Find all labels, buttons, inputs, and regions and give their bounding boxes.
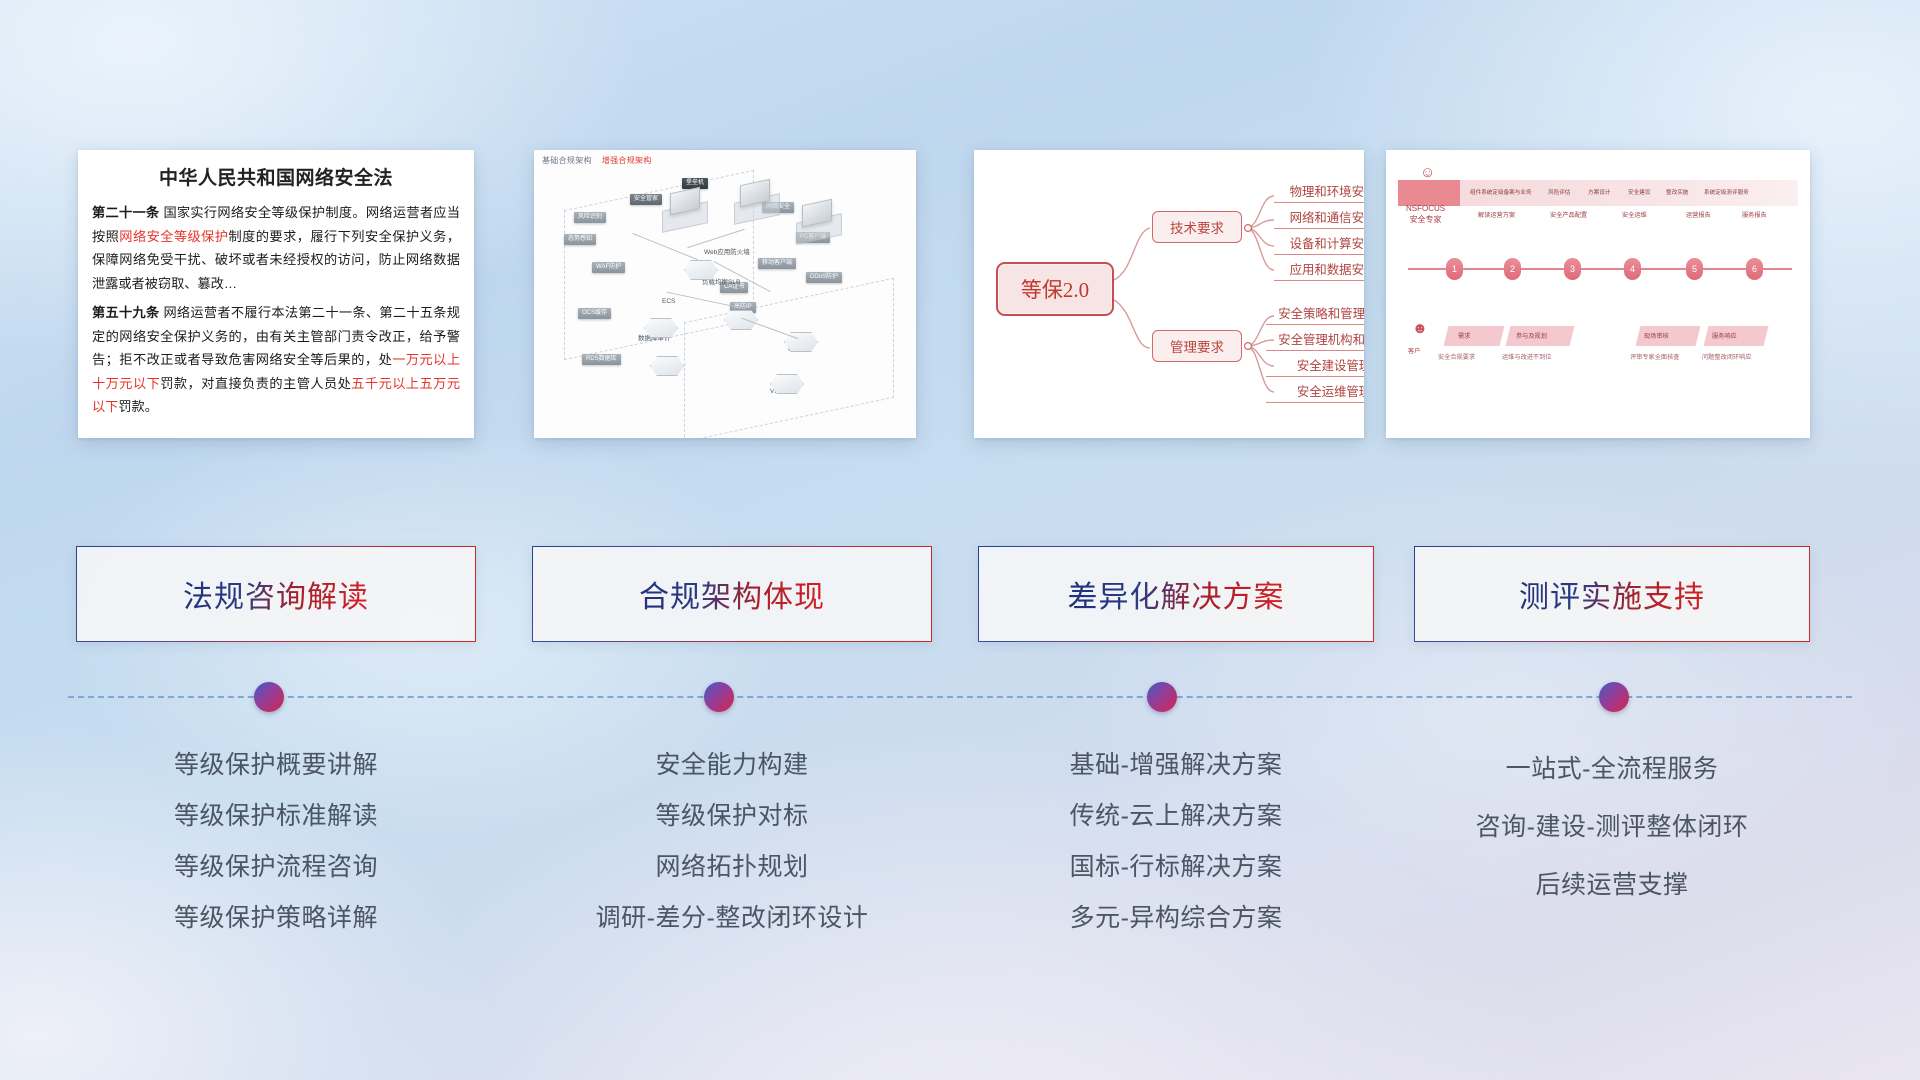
roadmap-callout	[1444, 326, 1505, 346]
list-item: 安全能力构建	[532, 740, 932, 791]
roadmap-step: 5	[1686, 258, 1703, 280]
roadmap-bottom-sub: 问题整改闭环响应	[1702, 352, 1752, 361]
law-article-21: 第二十一条 国家实行网络安全等级保护制度。网络运营者应当按照网络安全等级保护制度…	[92, 201, 460, 295]
roadmap-step: 4	[1624, 258, 1641, 280]
list-item: 后续运营支撑	[1414, 856, 1810, 914]
service-hex	[724, 310, 758, 330]
roadmap-ribbon-brand-block	[1398, 180, 1460, 206]
plate-legal-consulting[interactable]: 法规咨询解读	[76, 546, 476, 642]
roadmap-bottom-title: 服务响应	[1712, 331, 1737, 340]
roadmap-step: 6	[1746, 258, 1763, 280]
list-item: 国标-行标解决方案	[978, 842, 1374, 893]
roadmap-top-tag: 风险评估	[1548, 188, 1570, 196]
roadmap-top-tag: 组件系统定级备案与业务	[1470, 188, 1532, 196]
card-service-roadmap: ☺ NSFOCUS 安全专家 组件系统定级备案与业务 风险评估 方案设计 安全建…	[1386, 150, 1810, 438]
card-law-text: 中华人民共和国网络安全法 第二十一条 国家实行网络安全等级保护制度。网络运营者应…	[78, 150, 474, 438]
list-item: 等级保护对标	[532, 791, 932, 842]
roadmap-stage-label: 解读运营方案	[1478, 210, 1515, 219]
architecture-header-right: 增强合规架构	[602, 156, 652, 165]
list-item: 调研-差分-整改闭环设计	[532, 893, 932, 944]
article-highlight: 网络安全等级保护	[119, 229, 228, 244]
mindmap-leaf: 安全管理机构和人员	[1266, 330, 1364, 351]
mindmap-leaf: 物理和环境安全	[1274, 182, 1364, 203]
slide-stage: 中华人民共和国网络安全法 第二十一条 国家实行网络安全等级保护制度。网络运营者应…	[0, 0, 1920, 1080]
node-chip: 移动客户端	[758, 258, 796, 269]
node-chip: 安全管家	[630, 194, 662, 205]
node-chip: OCS缓存	[578, 308, 611, 319]
roadmap-stage-label: 安全运维	[1622, 210, 1647, 219]
article-number: 第五十九条	[92, 305, 159, 320]
mindmap-leaf: 应用和数据安全	[1274, 260, 1364, 281]
list-item: 等级保护概要讲解	[76, 740, 476, 791]
roadmap-bottom-title: 需求	[1458, 331, 1470, 340]
timeline-dashed-line	[68, 696, 1852, 698]
node-chip: WAF防护	[592, 262, 625, 273]
timeline-dot-2[interactable]	[704, 682, 734, 712]
list-item: 等级保护策略详解	[76, 893, 476, 944]
node-label: ECS	[662, 298, 675, 305]
service-hex	[770, 374, 804, 394]
plate-differentiated-solution[interactable]: 差异化解决方案	[978, 546, 1374, 642]
roadmap-timeline	[1408, 268, 1792, 270]
list-item: 网络拓扑规划	[532, 842, 932, 893]
plate-title: 测评实施支持	[1519, 572, 1705, 616]
node-label: Web应用防火墙	[704, 246, 750, 256]
list-item: 传统-云上解决方案	[978, 791, 1374, 842]
list-item: 等级保护流程咨询	[76, 842, 476, 893]
service-hex	[644, 318, 678, 338]
roadmap-customer: 客户	[1408, 346, 1420, 355]
node-chip: RDS数据库	[582, 354, 621, 365]
mindmap-leaf: 网络和通信安全	[1274, 208, 1364, 229]
brand-name: NSFOCUS	[1406, 204, 1445, 213]
roadmap-canvas: ☺ NSFOCUS 安全专家 组件系统定级备案与业务 风险评估 方案设计 安全建…	[1386, 150, 1810, 438]
plate-title: 差异化解决方案	[1068, 572, 1285, 616]
card-mindmap: 等保2.0 技术要求 管理要求 物理和环境安全 网络和通信安全 设备和计算安全 …	[974, 150, 1364, 438]
timeline-dot-4[interactable]	[1599, 682, 1629, 712]
plate-title: 合规架构体现	[639, 572, 825, 616]
roadmap-bottom-sub: 安全合规要求	[1438, 352, 1475, 361]
architecture-header-left: 基础合规架构	[542, 156, 592, 165]
mindmap-leaf: 安全运维管理	[1266, 382, 1364, 403]
mindmap-leaf: 安全建设管理	[1266, 356, 1364, 377]
roadmap-bottom-title: 现场审核	[1644, 331, 1669, 340]
law-document: 中华人民共和国网络安全法 第二十一条 国家实行网络安全等级保护制度。网络运营者应…	[78, 150, 474, 419]
customer-icon: ☻	[1412, 320, 1428, 337]
service-hex	[650, 356, 684, 376]
roadmap-step: 2	[1504, 258, 1521, 280]
node-chip: 风险识别	[574, 212, 606, 223]
mindmap-leaf: 安全策略和管理制度	[1266, 304, 1364, 325]
mindmap-leaf: 设备和计算安全	[1274, 234, 1364, 255]
roadmap-top-tag: 整改实施	[1666, 188, 1688, 196]
list-legal-consulting: 等级保护概要讲解 等级保护标准解读 等级保护流程咨询 等级保护策略详解	[76, 740, 476, 944]
mindmap-root-node: 等保2.0	[996, 262, 1114, 316]
roadmap-stage-label: 服务报告	[1742, 210, 1767, 219]
roadmap-bottom-sub: 评审专家全面核查	[1630, 352, 1680, 361]
architecture-header: 基础合规架构增强合规架构	[542, 155, 652, 166]
card-architecture-diagram: 基础合规架构增强合规架构 堡垒机 安全管家 风险识别 态势感知 WAF防护 OC…	[534, 150, 916, 438]
roadmap-stage-label: 运营报告	[1686, 210, 1711, 219]
node-chip: 态势感知	[564, 234, 596, 245]
roadmap-top-tag: 方案设计	[1588, 188, 1610, 196]
article-text-mid: 罚款，对直接负责的主管人员处	[160, 376, 351, 391]
roadmap-step: 3	[1564, 258, 1581, 280]
brand-subtitle: 安全专家	[1410, 215, 1442, 224]
timeline-dot-1[interactable]	[254, 682, 284, 712]
list-item: 咨询-建设-测评整体闭环	[1414, 798, 1810, 856]
timeline-dot-3[interactable]	[1147, 682, 1177, 712]
article-text-after: 罚款。	[118, 399, 158, 414]
roadmap-bottom-title: 参与及规划	[1516, 331, 1547, 340]
law-article-59: 第五十九条 网络运营者不履行本法第二十一条、第二十五条规定的网络安全保护义务的，…	[92, 301, 460, 419]
roadmap-top-tag: 系统定级测评服务	[1704, 188, 1749, 196]
mindmap-branch-management: 管理要求	[1152, 330, 1242, 362]
plate-compliance-architecture[interactable]: 合规架构体现	[532, 546, 932, 642]
article-number: 第二十一条	[92, 205, 159, 220]
roadmap-brand: NSFOCUS 安全专家	[1406, 204, 1445, 226]
mindmap-branch-technical: 技术要求	[1152, 211, 1242, 243]
list-compliance-architecture: 安全能力构建 等级保护对标 网络拓扑规划 调研-差分-整改闭环设计	[532, 740, 932, 944]
roadmap-step: 1	[1446, 258, 1463, 280]
list-evaluation-support: 一站式-全流程服务 咨询-建设-测评整体闭环 后续运营支撑	[1414, 740, 1810, 914]
plate-title: 法规咨询解读	[183, 572, 369, 616]
roadmap-top-tag: 安全建设	[1628, 188, 1650, 196]
plate-evaluation-support[interactable]: 测评实施支持	[1414, 546, 1810, 642]
expert-icon: ☺	[1420, 164, 1435, 181]
list-item: 等级保护标准解读	[76, 791, 476, 842]
service-hex	[684, 260, 718, 280]
mindmap-canvas: 等保2.0 技术要求 管理要求 物理和环境安全 网络和通信安全 设备和计算安全 …	[974, 150, 1364, 438]
node-chip: DDoS防护	[806, 272, 842, 283]
list-item: 一站式-全流程服务	[1414, 740, 1810, 798]
list-item: 基础-增强解决方案	[978, 740, 1374, 791]
architecture-canvas: 基础合规架构增强合规架构 堡垒机 安全管家 风险识别 态势感知 WAF防护 OC…	[534, 150, 916, 438]
law-title: 中华人民共和国网络安全法	[92, 163, 460, 190]
roadmap-bottom-sub: 运维与改进不到位	[1502, 352, 1552, 361]
list-differentiated-solution: 基础-增强解决方案 传统-云上解决方案 国标-行标解决方案 多元-异构综合方案	[978, 740, 1374, 944]
list-item: 多元-异构综合方案	[978, 893, 1374, 944]
roadmap-stage-label: 安全产品配置	[1550, 210, 1587, 219]
